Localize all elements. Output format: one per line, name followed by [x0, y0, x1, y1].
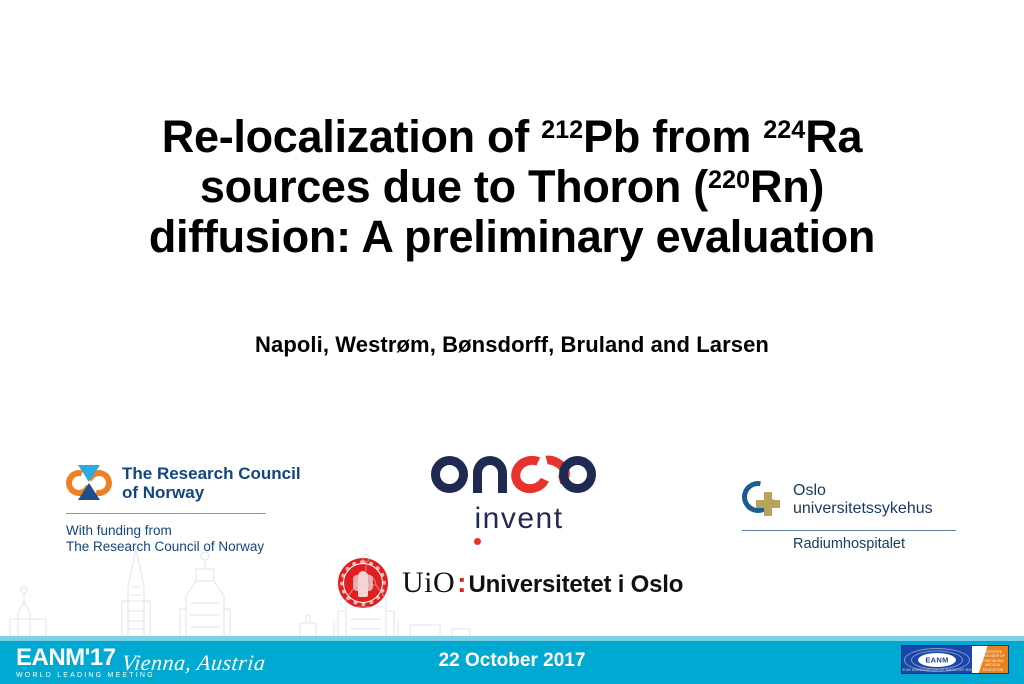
ous-logo-header: Oslo universitetssykehus: [742, 478, 967, 522]
presentation-slide: Re-localization of 212Pb from 224Ra sour…: [0, 0, 1024, 684]
rcn-name-line-2: of Norway: [122, 483, 301, 502]
hospital-cross-icon: [742, 480, 784, 520]
logo-research-council-of-norway: The Research Council of Norway With fund…: [66, 462, 341, 555]
badge-logo-panel: EANM EUROPEAN ASSOCIATION OF NUCLEAR MED…: [902, 646, 972, 673]
onco-red-dot-icon: [474, 538, 481, 545]
logo-onco-invent: invent: [424, 446, 614, 536]
title-superscript-220: 220: [708, 166, 750, 194]
rcn-logo-header: The Research Council of Norway: [66, 462, 341, 504]
uio-abbrev: UiO: [402, 566, 455, 599]
footer-bar: EANM'17 WORLD LEADING MEETING Vienna, Au…: [0, 636, 1024, 684]
title-text-1c: Ra: [805, 111, 862, 162]
rcn-funding-line-2: The Research Council of Norway: [66, 539, 341, 555]
footer-top-strip: [0, 636, 1024, 641]
badge-sublabel: EUROPEAN ASSOCIATION OF NUCLEAR MEDICINE: [902, 668, 972, 672]
logo-universitetet-i-oslo: UiO:Universitetet i Oslo: [338, 558, 683, 608]
rcn-logo-name: The Research Council of Norway: [122, 464, 301, 502]
title-line-2: sources due to Thoron (220Rn): [0, 162, 1024, 212]
logo-oslo-universitetssykehus: Oslo universitetssykehus Radiumhospitale…: [742, 478, 967, 552]
badge-accreditation-panel: CERTIFIED PROVIDER OF CONTINUING MEDICAL…: [972, 646, 1008, 673]
eanm-badge-icon: EANM EUROPEAN ASSOCIATION OF NUCLEAR MED…: [901, 645, 1009, 674]
event-date: 22 October 2017: [0, 650, 1024, 672]
title-text-2b: Rn): [750, 161, 824, 212]
uio-seal-icon: [338, 558, 388, 608]
ous-name-line-2: universitetssykehus: [793, 500, 933, 518]
onco-subword: invent: [424, 502, 614, 536]
ous-logo-name: Oslo universitetssykehus: [793, 482, 933, 518]
badge-label: EANM: [925, 655, 948, 664]
title-superscript-212: 212: [541, 116, 583, 144]
page-title: Re-localization of 212Pb from 224Ra sour…: [0, 112, 1024, 262]
rcn-name-line-1: The Research Council: [122, 464, 301, 483]
ous-divider: [742, 530, 956, 531]
rcn-divider: [66, 513, 266, 514]
research-council-hourglass-icon: [66, 463, 112, 503]
uio-full-name: Universitetet i Oslo: [469, 571, 684, 598]
title-text-1a: Re-localization of: [162, 111, 541, 162]
uio-separator: :: [457, 567, 466, 598]
rcn-funding-note: With funding from The Research Council o…: [66, 523, 341, 555]
title-text-2a: sources due to Thoron (: [200, 161, 708, 212]
badge-accreditation-label: CERTIFIED PROVIDER OF CONTINUING MEDICAL…: [980, 650, 1006, 672]
author-list: Napoli, Westrøm, Bønsdorff, Bruland and …: [0, 332, 1024, 358]
rcn-funding-line-1: With funding from: [66, 523, 341, 539]
title-line-1: Re-localization of 212Pb from 224Ra: [0, 112, 1024, 162]
onco-subword-text: invent: [474, 502, 563, 535]
title-text-1b: Pb from: [583, 111, 763, 162]
ous-name-line-1: Oslo: [793, 482, 933, 500]
uio-wordmark: UiO:Universitetet i Oslo: [402, 566, 683, 600]
title-superscript-224: 224: [763, 116, 805, 144]
onco-wordmark-icon: [431, 446, 607, 494]
title-line-3: diffusion: A preliminary evaluation: [0, 212, 1024, 262]
ous-subtitle: Radiumhospitalet: [742, 536, 956, 552]
